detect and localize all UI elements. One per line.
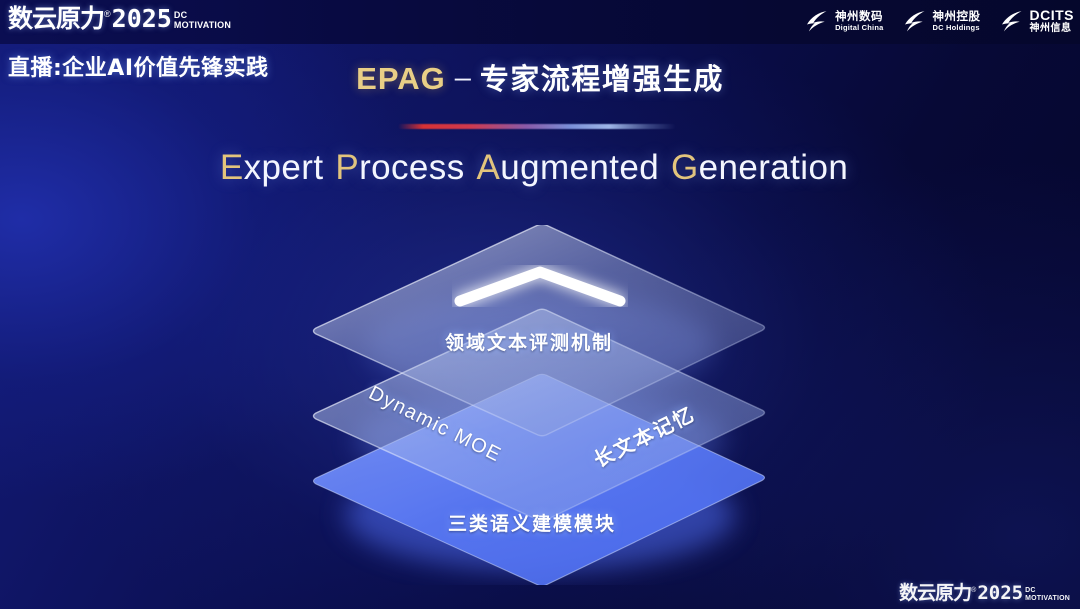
subtitle-initial: P [335,148,359,187]
swirl-logo-icon [999,8,1025,34]
partner-name-en: DCITS [1030,8,1075,22]
watermark-year: 2025 [977,584,1023,603]
subtitle-word: Augmented [477,148,660,187]
page-subtitle: ExpertProcessAugmentedGeneration [0,148,1080,188]
watermark-tagline-line1: DC [1025,587,1036,594]
swirl-logo-icon [902,8,928,34]
partner-label: 神州控股 DC Holdings [933,11,981,32]
corner-watermark-logo: 数云原力 ® 2025 DC MOTIVATION [899,584,1070,603]
headline-chinese: 专家流程增强生成 [480,62,724,96]
subtitle-initial: G [671,148,699,187]
subtitle-initial: E [220,148,244,187]
headline-dash: – [455,62,471,94]
partner-logo-group: 神州数码 Digital China 神州控股 DC Holdings [804,4,1074,38]
subtitle-rest: ugmented [500,148,659,187]
brand-tagline-line2: MOTIVATION [174,20,231,30]
partner-name-cn: 神州信息 [1030,24,1075,34]
brand-logo: 数云原力 ® 2025 DC MOTIVATION [8,3,231,31]
brand-year: 2025 [112,6,172,31]
subtitle-rest: xpert [244,148,324,187]
subtitle-word: Generation [671,148,848,187]
subtitle-rest: eneration [699,148,849,187]
subtitle-word: Expert [220,148,324,187]
brand-tagline-line1: DC [174,10,187,20]
watermark-tagline: DC MOTIVATION [1025,587,1070,602]
chevron-up-icon [452,265,628,307]
headline-acronym: EPAG [356,61,446,96]
live-session-title: 直播:企业AI价值先锋实践 [8,50,269,82]
subtitle-word: Process [335,148,464,187]
partner-logo-dcits: 神州信息 DCITS [999,8,1075,34]
brand-name-cn: 数云原力 [8,6,104,31]
layer-stack-diagram: 领域文本评测机制 Dynamic MOE 长文本记忆 三类语义建模模块 [270,225,810,585]
partner-name-cn: 神州数码 [835,11,883,23]
partner-name-en: Digital China [835,24,883,32]
partner-logo-dc-holdings: 神州控股 DC Holdings [902,8,981,34]
partner-label: 神州信息 DCITS [1030,8,1075,34]
subtitle-rest: rocess [359,148,465,187]
watermark-registered-mark: ® [971,587,976,594]
watermark-tagline-line2: MOTIVATION [1025,595,1070,602]
partner-logo-digital-china: 神州数码 Digital China [804,8,883,34]
swirl-logo-icon [804,8,830,34]
partner-name-en: DC Holdings [933,24,981,32]
partner-name-cn: 神州控股 [933,11,981,23]
watermark-name-cn: 数云原力 [899,584,971,603]
brand-tagline: DC MOTIVATION [174,11,231,30]
subtitle-initial: A [477,148,501,187]
slide-canvas: 数云原力 ® 2025 DC MOTIVATION 直播:企业AI价值先锋实践 … [0,0,1080,609]
accent-gradient-rule [398,124,676,129]
registered-mark: ® [104,10,111,19]
partner-label: 神州数码 Digital China [835,11,883,32]
